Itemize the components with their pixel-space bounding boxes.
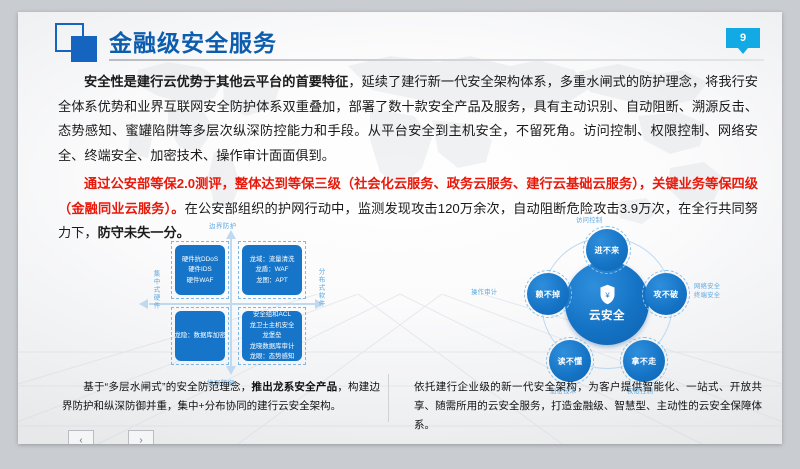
satellite-label: 赖不掉 xyxy=(527,273,569,315)
caption-right: 依托建行企业级的新一代安全架构，为客户提供智能化、一站式、开放共享、随需所用的云… xyxy=(414,378,762,435)
satellite-node-top[interactable]: 进不来 xyxy=(583,226,631,274)
logo-filled-icon xyxy=(71,36,97,62)
axis-label-left: 集中式硬件 xyxy=(150,270,160,310)
svg-text:¥: ¥ xyxy=(605,290,610,299)
quadrant-item: 龙卫士主机安全 xyxy=(250,321,295,331)
quadrant-item: 硬件抗DDoS xyxy=(182,255,218,265)
quadrant-item: 硬件WAF xyxy=(187,276,214,286)
quadrant-item: 龙隐：数据库加密 xyxy=(174,331,225,341)
satellite-label: 进不来 xyxy=(586,229,628,271)
slide-canvas: 金融级安全服务 9 安全性是建行云优势于其他云平台的首要特征，延续了建行新一代安… xyxy=(18,12,782,444)
outer-label-left: 操作审计 xyxy=(471,288,497,297)
quadrant-item: 龙盾：WAF xyxy=(255,265,288,275)
prev-page-button[interactable]: ‹ xyxy=(68,430,94,444)
outer-label-top: 访问控制 xyxy=(576,216,602,225)
caption-right-text: 依托建行企业级的新一代安全架构，为客户提供智能化、一站式、开放共享、随需所用的云… xyxy=(414,381,762,431)
quadrant-item: 安全组和ACL xyxy=(253,310,291,320)
caption-left-bold: 推出龙系安全产品 xyxy=(252,381,338,393)
satellite-label: 读不懂 xyxy=(549,340,591,382)
arrow-down-icon xyxy=(226,366,236,375)
chevron-left-icon: ‹ xyxy=(79,435,82,445)
quadrant-item: 龙眼：态势感知 xyxy=(250,352,295,362)
quadrant-item: 龙域：流量清洗 xyxy=(250,255,295,265)
quadrant-box-top-left[interactable]: 硬件抗DDoS 硬件IDS 硬件WAF xyxy=(171,241,229,299)
quadrant-box-bottom-right[interactable]: 安全组和ACL 龙卫士主机安全 龙堡垒 龙晓数据库审计 龙眼：态势感知 xyxy=(238,307,306,365)
page-number-badge: 9 xyxy=(726,28,760,48)
quadrant-box-bottom-left[interactable]: 龙隐：数据库加密 xyxy=(171,307,229,365)
paragraph-intro-lead: 安全性是建行云优势于其他云平台的首要特征 xyxy=(84,74,348,89)
axis-label-right: 分布式软件 xyxy=(315,268,325,308)
quadrant-box-top-right[interactable]: 龙域：流量清洗 龙盾：WAF 龙图：APT xyxy=(238,241,306,299)
next-page-button[interactable]: › xyxy=(128,430,154,444)
chevron-right-icon: › xyxy=(139,435,142,445)
quadrant-diagram: 边界防护 纵深防御 集中式硬件 分布式软件 硬件抗DDoS 硬件IDS 硬件WA… xyxy=(123,224,348,384)
slide-header: 金融级安全服务 9 xyxy=(18,12,782,62)
outer-label-right: 网络安全 终端安全 xyxy=(694,282,720,300)
satellite-label: 攻不破 xyxy=(645,273,687,315)
axis-label-top: 边界防护 xyxy=(209,220,237,230)
caption-left-part1: 基于“多层水闸式”的安全防范理念， xyxy=(83,381,252,393)
quadrant-item: 龙晓数据库审计 xyxy=(250,342,295,352)
arrow-left-icon xyxy=(139,299,148,309)
center-node-label: 云安全 xyxy=(589,307,625,323)
navigation-bar: ‹ › xyxy=(68,430,154,444)
cloud-security-circle-diagram: ¥ 云安全 进不来 攻不破 拿不走 读不懂 赖不掉 访问控制 网络安全 终端安全… xyxy=(470,220,740,388)
caption-divider xyxy=(388,374,389,422)
satellite-label: 拿不走 xyxy=(623,340,665,382)
page-title: 金融级安全服务 xyxy=(109,24,277,58)
shield-icon: ¥ xyxy=(599,284,616,305)
quadrant-item: 硬件IDS xyxy=(188,265,211,275)
page-number-text: 9 xyxy=(740,32,746,44)
arrow-up-icon xyxy=(226,230,236,239)
satellite-node-right[interactable]: 攻不破 xyxy=(642,270,690,318)
satellite-node-left[interactable]: 赖不掉 xyxy=(524,270,572,318)
quadrant-item: 龙堡垒 xyxy=(262,331,281,341)
caption-left: 基于“多层水闸式”的安全防范理念，推出龙系安全产品，构建边界防护和纵深防御并重，… xyxy=(62,378,380,416)
quadrant-horizontal-axis xyxy=(149,303,317,305)
title-divider xyxy=(109,59,764,61)
quadrant-item: 龙图：APT xyxy=(256,276,288,286)
paragraph-intro: 安全性是建行云优势于其他云平台的首要特征，延续了建行新一代安全架构体系，多重水闸… xyxy=(58,70,758,168)
